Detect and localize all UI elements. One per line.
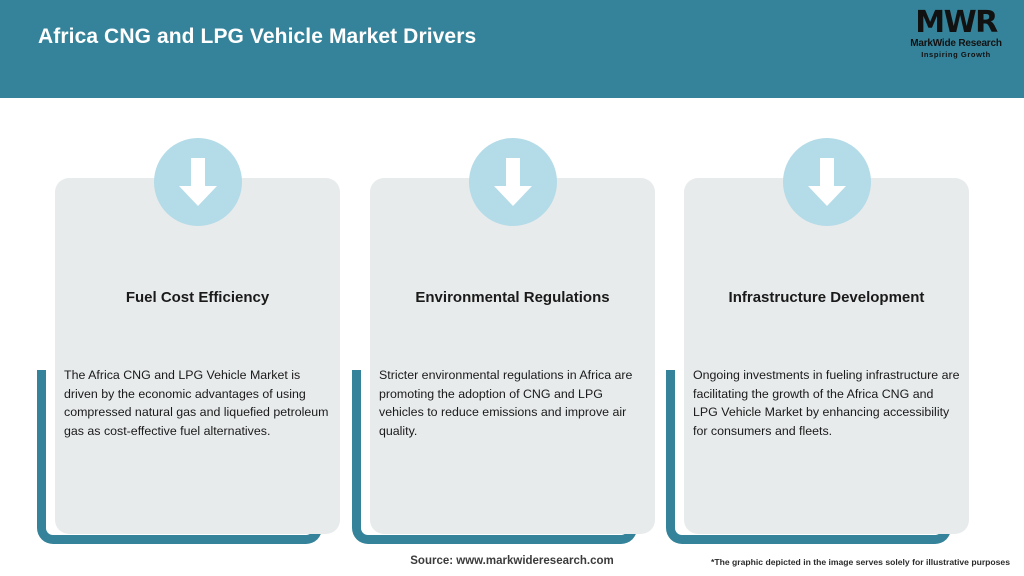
card-body-text: Stricter environmental regulations in Af… bbox=[379, 366, 647, 440]
disclaimer-note: *The graphic depicted in the image serve… bbox=[711, 557, 1010, 567]
card-surface: Infrastructure Development Ongoing inves… bbox=[684, 178, 969, 534]
driver-cards-container: Fuel Cost Efficiency The Africa CNG and … bbox=[0, 0, 1024, 576]
down-arrow-icon bbox=[154, 138, 242, 226]
driver-card-1: Fuel Cost Efficiency The Africa CNG and … bbox=[55, 140, 340, 544]
down-arrow-icon bbox=[469, 138, 557, 226]
down-arrow-icon bbox=[783, 138, 871, 226]
card-heading: Infrastructure Development bbox=[694, 288, 959, 307]
card-body-text: The Africa CNG and LPG Vehicle Market is… bbox=[64, 366, 332, 440]
driver-card-2: Environmental Regulations Stricter envir… bbox=[370, 140, 655, 544]
driver-card-3: Infrastructure Development Ongoing inves… bbox=[684, 140, 969, 544]
card-surface: Fuel Cost Efficiency The Africa CNG and … bbox=[55, 178, 340, 534]
card-surface: Environmental Regulations Stricter envir… bbox=[370, 178, 655, 534]
card-heading: Environmental Regulations bbox=[380, 288, 645, 307]
card-heading: Fuel Cost Efficiency bbox=[65, 288, 330, 307]
card-body-text: Ongoing investments in fueling infrastru… bbox=[693, 366, 961, 440]
